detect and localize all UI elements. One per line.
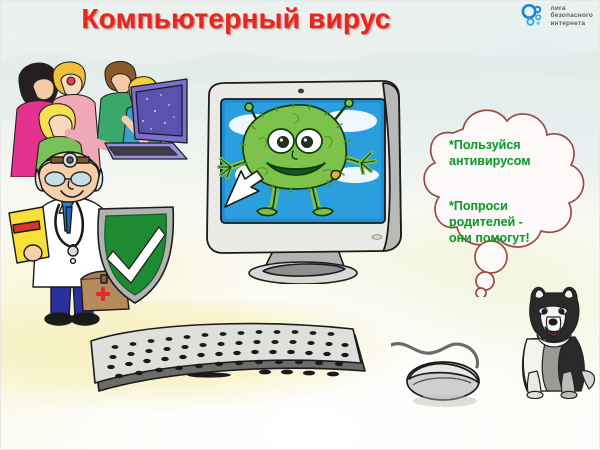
liga-logo-icon xyxy=(520,3,546,29)
monitor-with-virus-illustration xyxy=(197,79,417,284)
logo-text: лига безопасного интернета xyxy=(550,5,593,28)
advice-thought-bubble: *Пользуйся антивирусом *Попроси родителе… xyxy=(413,85,599,297)
husky-dog-illustration xyxy=(507,277,599,399)
poster-root: Компьютерный вирус лига безопасного инте… xyxy=(0,0,600,450)
advice-tip-1: *Пользуйся антивирусом xyxy=(449,137,571,169)
logo: лига безопасного интернета xyxy=(520,3,593,29)
computer-mouse-illustration xyxy=(391,339,501,411)
doctor-with-antivirus-shield-illustration xyxy=(3,151,183,326)
advice-tip-2: *Попроси родителей - они помогут! xyxy=(449,198,571,246)
page-title: Компьютерный вирус xyxy=(1,3,471,35)
keyboard-illustration xyxy=(89,319,369,411)
advice-text: *Пользуйся антивирусом *Попроси родителе… xyxy=(449,121,571,262)
